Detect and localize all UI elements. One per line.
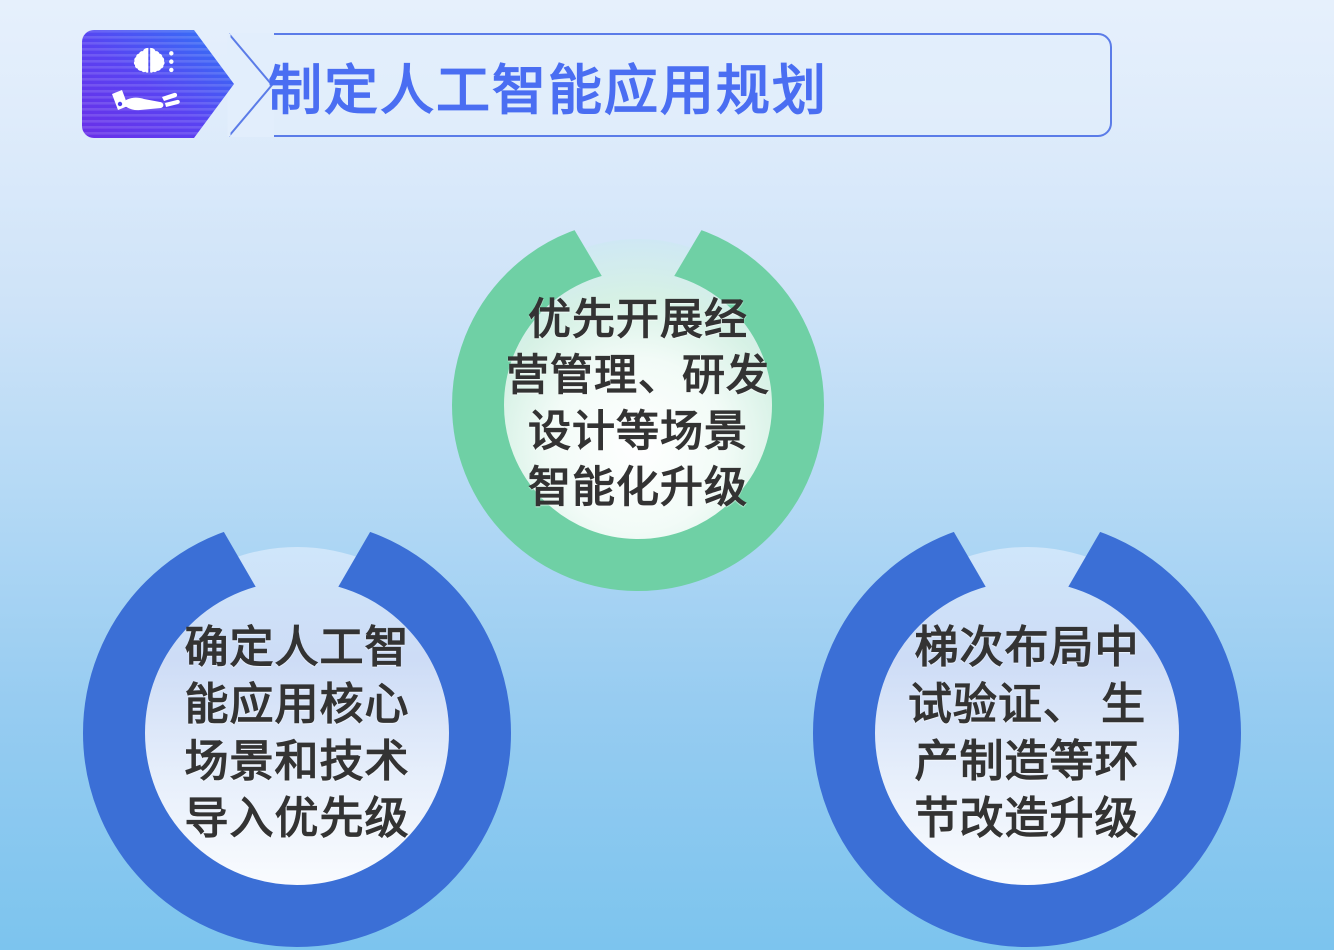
- node-right-line-4: 节改造升级: [915, 790, 1140, 847]
- node-right-text: 梯次布局中 试验证、 生 产制造等环 节改造升级: [812, 518, 1242, 950]
- node-top-line-3: 设计等场景: [528, 405, 748, 461]
- node-left-line-4: 导入优先级: [185, 790, 410, 847]
- node-right-line-3: 产制造等环: [915, 733, 1140, 790]
- node-top-line-2: 营管理、研发: [506, 349, 770, 405]
- node-left-line-2: 能应用核心: [185, 676, 410, 733]
- header-badge: [82, 30, 234, 138]
- node-top-line-4: 智能化升级: [528, 461, 748, 517]
- node-left-line-3: 场景和技术: [185, 733, 410, 790]
- node-left-line-1: 确定人工智: [185, 619, 410, 676]
- node-top-line-1: 优先开展经: [528, 293, 748, 349]
- node-left[interactable]: 确定人工智 能应用核心 场景和技术 导入优先级: [82, 518, 512, 948]
- page-title: 制定人工智能应用规划: [268, 33, 1108, 137]
- slide-canvas: 制定人工智能应用规划: [0, 0, 1334, 950]
- node-left-text: 确定人工智 能应用核心 场景和技术 导入优先级: [82, 518, 512, 950]
- header: 制定人工智能应用规划: [82, 30, 1112, 142]
- node-right[interactable]: 梯次布局中 试验证、 生 产制造等环 节改造升级: [812, 518, 1242, 948]
- node-right-line-2: 试验证、 生: [908, 676, 1146, 733]
- node-right-line-1: 梯次布局中: [915, 619, 1140, 676]
